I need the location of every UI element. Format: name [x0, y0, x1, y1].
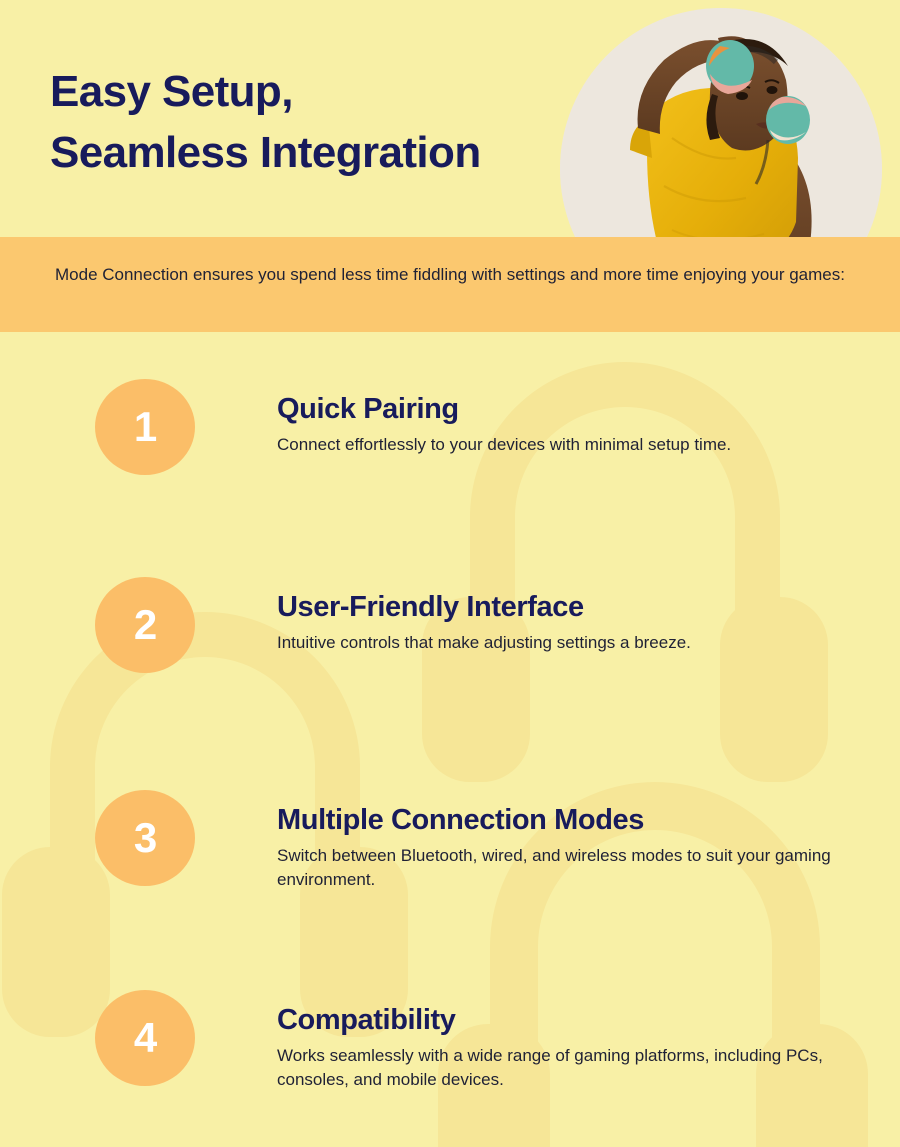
- page-title-line-1: Easy Setup,: [50, 62, 570, 123]
- list-item-body: User-Friendly Interface Intuitive contro…: [277, 590, 867, 655]
- page-title: Easy Setup, Seamless Integration: [50, 62, 570, 183]
- list-item-body: Compatibility Works seamlessly with a wi…: [277, 1003, 867, 1091]
- list-item-number: 3: [134, 814, 156, 862]
- list-item-number: 1: [134, 403, 156, 451]
- hero-section: Easy Setup, Seamless Integration: [0, 0, 900, 237]
- intro-banner-text: Mode Connection ensures you spend less t…: [55, 263, 845, 287]
- list-item-description: Intuitive controls that make adjusting s…: [277, 631, 867, 654]
- page-title-line-2: Seamless Integration: [50, 123, 570, 184]
- list-item-number: 2: [134, 601, 156, 649]
- list-item: 1 Quick Pairing Connect effortlessly to …: [0, 379, 900, 519]
- list-item-title: User-Friendly Interface: [277, 590, 867, 624]
- list-item-description: Connect effortlessly to your devices wit…: [277, 433, 867, 456]
- list-item-title: Compatibility: [277, 1003, 867, 1037]
- list-item-number: 4: [134, 1014, 156, 1062]
- list-item-number-badge: 2: [95, 577, 195, 673]
- list-item-number-badge: 4: [95, 990, 195, 1086]
- list-item: 3 Multiple Connection Modes Switch betwe…: [0, 790, 900, 930]
- list-item-description: Switch between Bluetooth, wired, and wir…: [277, 844, 867, 891]
- list-item-body: Quick Pairing Connect effortlessly to yo…: [277, 392, 867, 457]
- intro-banner: Mode Connection ensures you spend less t…: [0, 237, 900, 332]
- list-item-number-badge: 1: [95, 379, 195, 475]
- list-item-description: Works seamlessly with a wide range of ga…: [277, 1044, 867, 1091]
- list-item: 4 Compatibility Works seamlessly with a …: [0, 990, 900, 1130]
- list-item-title: Quick Pairing: [277, 392, 867, 426]
- list-item-number-badge: 3: [95, 790, 195, 886]
- list-item: 2 User-Friendly Interface Intuitive cont…: [0, 577, 900, 717]
- list-item-title: Multiple Connection Modes: [277, 803, 867, 837]
- list-item-body: Multiple Connection Modes Switch between…: [277, 803, 867, 891]
